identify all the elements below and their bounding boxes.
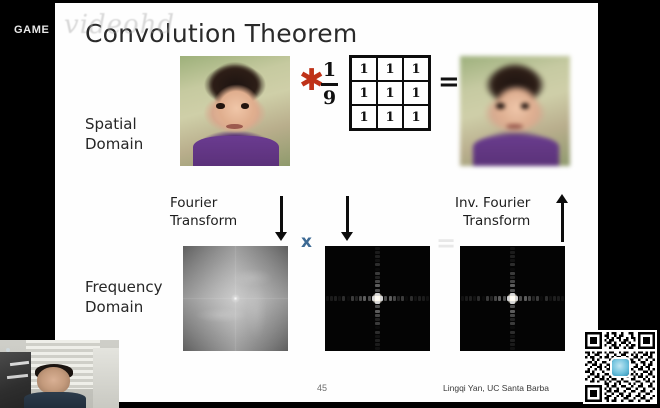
watermark-brand: GAME — [14, 24, 49, 36]
spatial-input-image — [180, 56, 290, 166]
spectrum-lobe — [375, 305, 379, 308]
spectrum-lobe — [510, 318, 514, 321]
spectrum-lobe — [519, 296, 522, 300]
spectrum-lobe — [338, 296, 341, 300]
spatial-domain-label: Spatial Domain — [85, 115, 143, 155]
spectrum-lobe — [375, 314, 379, 317]
spectrum-lobe — [375, 318, 379, 321]
spectrum-lobe — [347, 296, 350, 300]
presenter-torso — [24, 392, 86, 408]
spectrum-lobe — [375, 251, 379, 254]
spectrum-lobe — [510, 339, 514, 342]
spectrum-lobe — [359, 296, 362, 300]
spectrum-lobe — [510, 310, 514, 313]
spectrum-lobe — [510, 284, 514, 287]
spectrum-lobe — [561, 296, 564, 300]
spectrum-lobe — [528, 296, 531, 300]
kernel-cell: 1 — [404, 58, 428, 80]
spectrum-lobe — [363, 296, 366, 300]
convolution-kernel-matrix: 1 1 1 1 1 1 1 1 1 — [349, 55, 431, 131]
equals-operator-spatial: = — [438, 69, 459, 95]
fraction-bar — [321, 83, 338, 86]
spectrum-lobe — [477, 296, 480, 300]
spectrum-lobe — [375, 339, 379, 342]
webcam-wall — [93, 348, 119, 408]
spectrum-lobe — [375, 280, 379, 283]
spectrum-lobe — [401, 296, 404, 300]
kernel-cell: 1 — [352, 58, 376, 80]
spectrum-wisps — [183, 246, 288, 351]
spectrum-lobe — [510, 255, 514, 258]
spectrum-lobe — [375, 272, 379, 275]
spectrum-lobe — [510, 276, 514, 279]
spectrum-lobe — [510, 289, 514, 292]
spectrum-lobe — [397, 296, 400, 300]
kernel-cell: 1 — [404, 106, 428, 128]
spectrum-lobe — [515, 296, 518, 300]
spectrum-lobe — [422, 296, 425, 300]
kernel-scale-fraction: 1 9 — [321, 61, 338, 108]
arrow-shaft — [346, 196, 349, 233]
presenter-face — [37, 367, 70, 394]
photo-eye-right — [521, 103, 529, 109]
spectrum-lobe — [510, 322, 514, 325]
frequency-kernel-spectrum — [325, 246, 430, 351]
spectrum-lobe — [545, 296, 548, 300]
spectrum-lobe — [414, 296, 417, 300]
spectrum-lobe — [510, 293, 514, 296]
spectrum-lobe — [334, 296, 337, 300]
spectrum-lobe — [510, 251, 514, 254]
spectrum-lobe — [507, 296, 510, 300]
spectrum-lobe — [557, 296, 560, 300]
photo-face — [209, 82, 264, 137]
photo-eye-left — [496, 103, 504, 109]
spectrum-lobe — [375, 293, 379, 296]
spectrum-lobe — [473, 296, 476, 300]
kernel-cell: 1 — [378, 58, 402, 80]
qr-code-overlay[interactable] — [583, 330, 657, 404]
kernel-cell: 1 — [404, 82, 428, 104]
spectrum-lobe — [498, 296, 501, 300]
spectrum-lobe — [549, 296, 552, 300]
spectrum-lobe — [510, 301, 514, 304]
spectrum-lobe — [330, 296, 333, 300]
inverse-fourier-transform-label: Inv. Fourier Transform — [455, 195, 530, 230]
spectrum-lobe — [461, 296, 464, 300]
spectrum-lobe — [486, 296, 489, 300]
spectrum-lobe — [536, 296, 539, 300]
photo-eye-right — [241, 103, 249, 109]
spectrum-lobe — [465, 296, 468, 300]
spectrum-lobe — [375, 255, 379, 258]
kernel-cell: 1 — [378, 106, 402, 128]
spectrum-lobe — [503, 296, 506, 300]
photo-mouth — [506, 124, 523, 129]
spectrum-lobe — [482, 296, 485, 300]
spectrum-lobe — [375, 322, 379, 325]
photo-dress — [193, 136, 279, 166]
spectrum-lobe — [351, 296, 354, 300]
spectrum-lobe — [494, 296, 497, 300]
spectrum-lobe — [510, 314, 514, 317]
spectrum-lobe — [375, 310, 379, 313]
spectrum-lobe — [375, 268, 379, 271]
spatial-output-image — [460, 56, 570, 166]
equals-operator-frequency: = — [436, 231, 455, 255]
spectrum-lobe — [510, 331, 514, 334]
spectrum-lobe — [524, 296, 527, 300]
spectrum-lobe — [375, 247, 379, 250]
fraction-denominator: 9 — [321, 89, 338, 108]
arrow-head — [275, 232, 287, 241]
spectrum-lobe — [510, 305, 514, 308]
spectrum-lobe — [426, 296, 429, 300]
spectrum-lobe — [375, 343, 379, 346]
spectrum-lobe — [375, 347, 379, 350]
spectrum-lobe — [532, 296, 535, 300]
spectrum-lobe — [342, 296, 345, 300]
spectrum-lobe — [469, 296, 472, 300]
spectrum-lobe — [375, 301, 379, 304]
spectrum-lobe — [368, 296, 371, 300]
spectrum-lobe — [510, 335, 514, 338]
arrow-shaft — [561, 202, 564, 242]
spectrum-lobe — [510, 268, 514, 271]
photo-face — [489, 82, 544, 137]
kernel-cell: 1 — [352, 106, 376, 128]
spectrum-lobe — [375, 259, 379, 262]
slide-page-number: 45 — [317, 383, 327, 393]
arrow-up-icon — [555, 194, 569, 242]
spectrum-lobe — [510, 263, 514, 266]
qr-center-logo-icon — [612, 359, 629, 376]
spectrum-lobe — [510, 259, 514, 262]
spectrum-lobe — [540, 296, 543, 300]
frequency-input-spectrum — [183, 246, 288, 351]
frequency-domain-label: Frequency Domain — [85, 278, 163, 318]
spectrum-lobe — [372, 296, 375, 300]
spectrum-lobe — [510, 347, 514, 350]
spectrum-lobe — [326, 296, 329, 300]
spectrum-lobe — [375, 331, 379, 334]
spectrum-lobe — [405, 296, 408, 300]
spectrum-lobe — [418, 296, 421, 300]
video-player-stage: GAME videohd Convolution Theorem Spatial… — [0, 0, 660, 408]
spectrum-lobe — [380, 296, 383, 300]
kernel-cell: 1 — [378, 82, 402, 104]
spectrum-lobe — [410, 296, 413, 300]
spectrum-lobe — [384, 296, 387, 300]
spectrum-lobe — [389, 296, 392, 300]
spectrum-lobe — [375, 289, 379, 292]
arrow-head — [341, 232, 353, 241]
spectrum-lobe — [553, 296, 556, 300]
spectrum-lobe — [510, 272, 514, 275]
presenter-webcam-video[interactable] — [0, 340, 119, 408]
spectrum-lobe — [375, 335, 379, 338]
spectrum-lobe — [393, 296, 396, 300]
kernel-cell: 1 — [352, 82, 376, 104]
slide-attribution: Lingqi Yan, UC Santa Barba — [443, 383, 549, 393]
spectrum-lobe — [375, 276, 379, 279]
arrow-down-icon-right — [340, 196, 354, 241]
photo-eye-left — [216, 103, 224, 109]
photo-mouth — [226, 124, 243, 129]
spectrum-lobe — [510, 280, 514, 283]
spectrum-lobe — [510, 343, 514, 346]
spectrum-lobe — [510, 326, 514, 329]
presentation-slide: Convolution Theorem Spatial Domain ✱ 1 9… — [55, 3, 598, 402]
fraction-numerator: 1 — [321, 61, 338, 80]
multiply-operator-icon: x — [301, 234, 312, 251]
spectrum-lobe — [510, 247, 514, 250]
arrow-shaft — [280, 196, 283, 233]
spectrum-lobe — [490, 296, 493, 300]
spectrum-lobe — [375, 263, 379, 266]
spectrum-lobe — [355, 296, 358, 300]
fourier-transform-label: Fourier Transform — [170, 195, 237, 230]
frequency-output-spectrum — [460, 246, 565, 351]
spectrum-lobe — [375, 284, 379, 287]
photo-dress — [473, 136, 559, 166]
arrow-down-icon-left — [274, 196, 288, 241]
watermark-ghost-text: videohd — [64, 10, 175, 40]
arrow-head — [556, 194, 568, 203]
spectrum-lobe — [375, 326, 379, 329]
